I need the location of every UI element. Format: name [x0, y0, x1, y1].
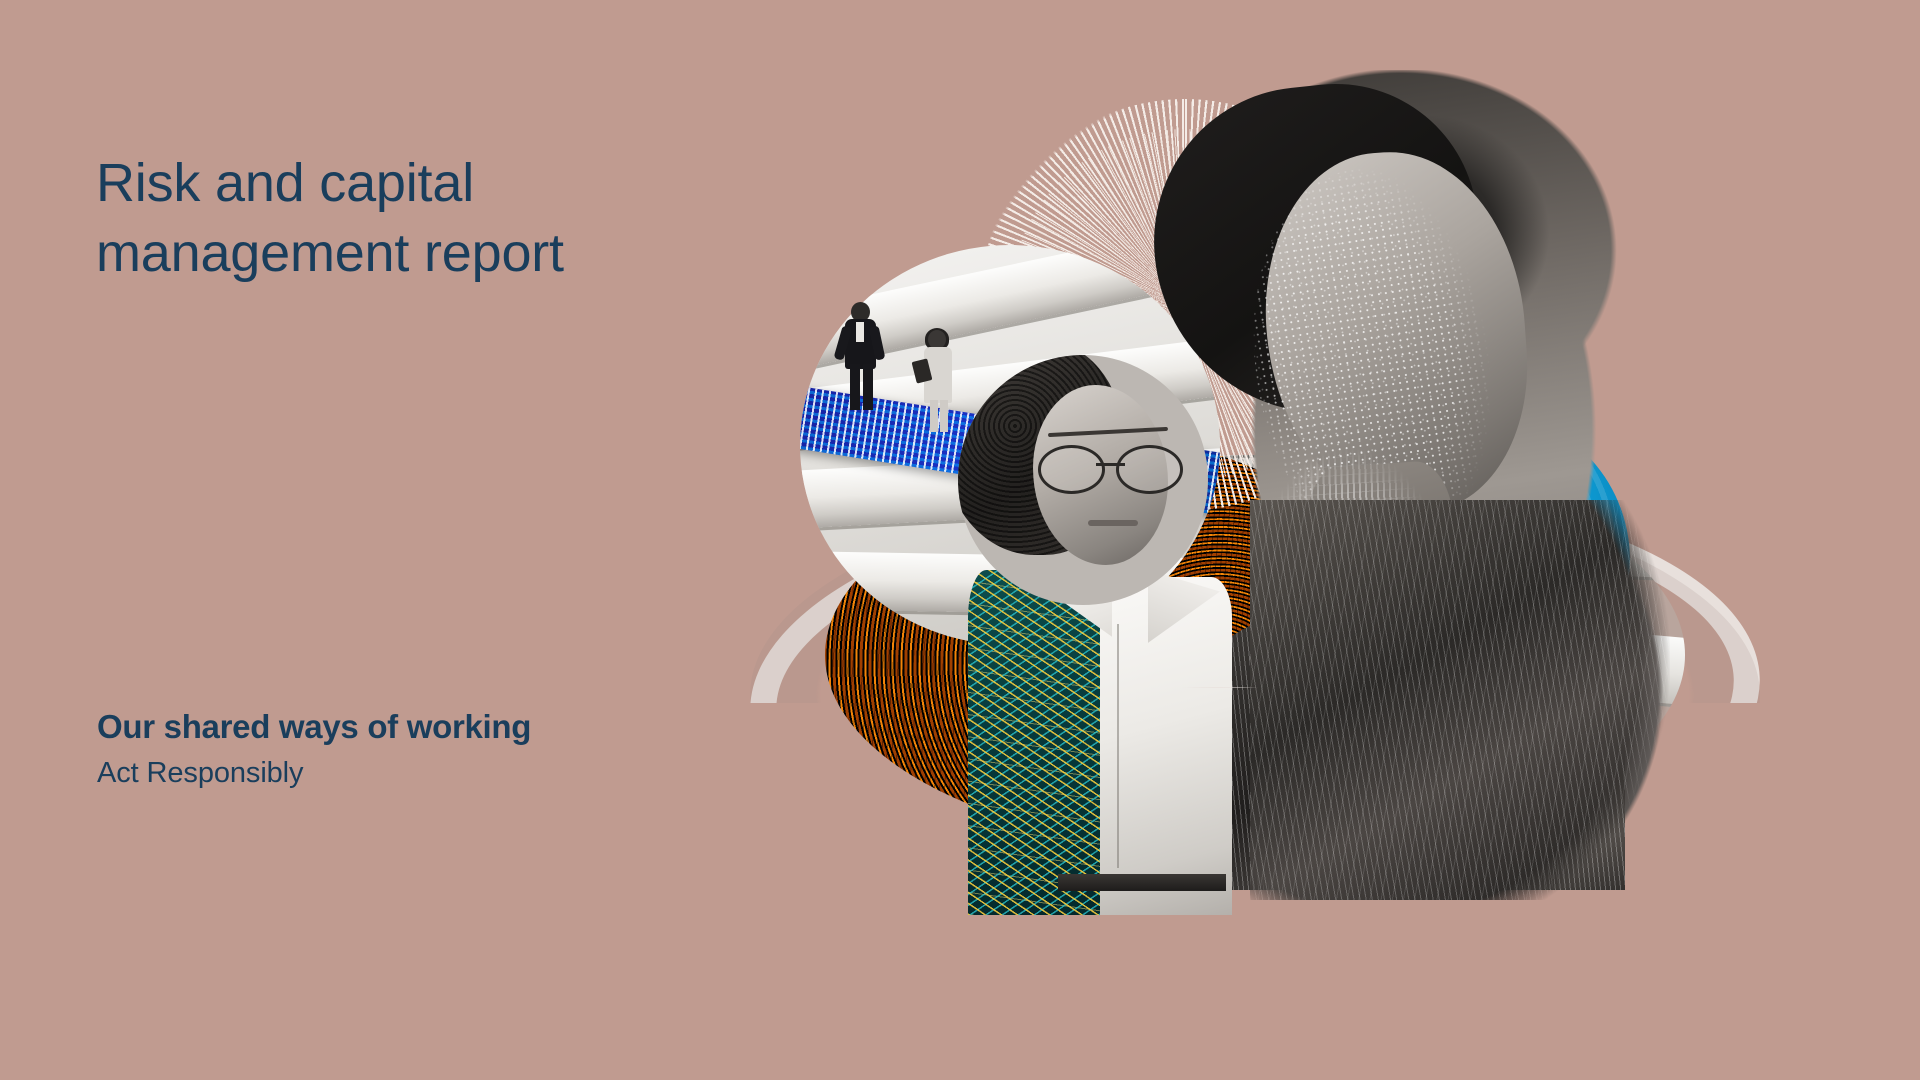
tagline: Our shared ways of working Act Responsib…: [97, 705, 531, 793]
figure-businesswoman: [916, 330, 960, 432]
page-title-line-1: Risk and capital: [96, 148, 564, 218]
tagline-heading: Our shared ways of working: [97, 705, 531, 749]
figure-businessman: [838, 302, 884, 410]
tagline-subheading: Act Responsibly: [97, 753, 531, 793]
hero-collage-artwork: [730, 30, 1920, 1060]
eyeglasses-icon: [1038, 445, 1183, 488]
cover-page: Risk and capital management report Our s…: [0, 0, 1920, 1080]
faceted-ring-front: [750, 485, 1760, 905]
page-title-line-2: management report: [96, 218, 564, 288]
page-title: Risk and capital management report: [96, 148, 564, 288]
